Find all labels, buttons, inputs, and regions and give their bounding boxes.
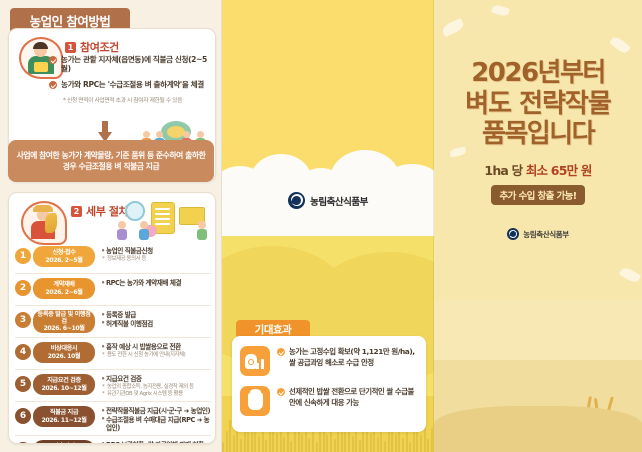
procedure-step-row: 5지급요건 검증2026. 10~12월지급요건 검증농업외 종합소득, 농지전…: [15, 373, 211, 399]
step-number: 4: [15, 344, 31, 360]
step-label: 직불금 지급: [50, 409, 78, 416]
grass-blade: [395, 434, 397, 452]
step-label-pill: 비상대응시2026. 10월: [33, 342, 95, 363]
subheadline-prefix: 1ha 당: [484, 163, 525, 178]
bullet-item: 농가와 RPC는 '수급조절용 벼 출하계약'을 체결: [49, 80, 209, 89]
section1-number: 1: [65, 42, 76, 53]
check-icon: [277, 348, 285, 356]
grass-blade: [326, 435, 328, 452]
grass-blade: [402, 438, 404, 452]
procedure-steps-list: 1신청·접수2026. 2~5월농업인 직불금신청정보제공 동의서 등2계약재배…: [15, 245, 211, 444]
step-desc-line: 허계직불 이행점검: [101, 320, 211, 329]
step-sub-note: 유관기관DB 및 Agrix 시스템 등 활용: [101, 391, 211, 398]
headline-line-3: 품목입니다: [434, 119, 642, 150]
grass-blade: [222, 442, 224, 452]
grass-blade: [352, 436, 354, 452]
step-label-pill: 사후관리연중: [33, 440, 95, 444]
step-divider: [15, 305, 211, 306]
money-chart-icon: [240, 346, 270, 376]
grass-blade: [240, 439, 242, 452]
step-desc-line: RPC는 농가와 계약재배 체결: [101, 279, 211, 288]
section1-title-row: 1 참여조건: [65, 39, 119, 55]
middle-ministry-logo: 농림축산식품부: [222, 192, 434, 209]
right-panel: 2026년부터 벼도 전략작물 품목입니다 1ha 당 최소 65만 원 추가 …: [434, 0, 642, 452]
effect-text: 선제적인 밥쌀 전환으로 단기적인 쌀 수급불안에 신속하게 대응 가능: [289, 386, 418, 408]
effect-item: 선제적인 밥쌀 전환으로 단기적인 쌀 수급불안에 신속하게 대응 가능: [240, 386, 418, 416]
step-description: 전략작물직불금 지급(시·군·구 ➜ 농업인)수급조절용 벼 수매대금 지급(R…: [101, 407, 211, 433]
grass-blade: [233, 435, 235, 452]
step-number: 6: [15, 408, 31, 424]
grass-blade: [359, 440, 361, 452]
step-desc-line: 흉작 예상 시 밥쌀용으로 전환: [101, 343, 211, 352]
grass-blade: [344, 432, 346, 452]
step-label: 사후관리: [53, 443, 74, 444]
right-ministry-logo: 농림축산식품부: [434, 228, 642, 240]
left-banner-title: 농업인 참여방법: [30, 11, 111, 30]
grass-blade: [334, 439, 336, 452]
taegeuk-icon: [507, 228, 519, 240]
check-icon: [277, 388, 285, 396]
step-label-pill: 직불금 지급2026. 11~12월: [33, 406, 95, 427]
grass-blade: [362, 429, 364, 452]
grass-blade: [265, 440, 267, 452]
procedure-step-row: 6직불금 지급2026. 11~12월전략작물직불금 지급(시·군·구 ➜ 농업…: [15, 405, 211, 433]
step-divider: [15, 273, 211, 274]
step-description: RPC 보관현황, 쌀 가공업체 판매 현황 등 점검: [101, 441, 211, 444]
farmer-rice-avatar-icon: [21, 201, 67, 245]
section2-number: 2: [71, 206, 82, 217]
middle-panel: 농림축산식품부 기대효과 농가는 고정수입 확보(약 1,121만 원/ha),…: [222, 0, 434, 452]
effect-text: 농가는 고정수입 확보(약 1,121만 원/ha), 쌀 공급과잉 해소로 수…: [289, 346, 418, 368]
step-sub-note: 정보제공 동의서 등: [101, 256, 211, 263]
effect-item: 농가는 고정수입 확보(약 1,121만 원/ha), 쌀 공급과잉 해소로 수…: [240, 346, 418, 376]
section1-bullets: 농가는 관할 지자체(읍면동)에 직불금 신청(2~5월) 농가와 RPC는 '…: [49, 55, 209, 104]
farmers-illustration: [434, 252, 642, 452]
effects-banner-title: 기대효과: [255, 322, 292, 337]
grass-blade: [420, 435, 422, 452]
procedure-step-row: 2계약재배2026. 2~6월RPC는 농가와 계약재배 체결: [15, 277, 211, 303]
summary-text: 사업에 참여한 농가가 계약물량, 기준 품위 등 준수하여 출하한 경우 수급…: [16, 150, 206, 173]
step-period: 2026. 6~10월: [43, 325, 84, 332]
step-label: 등록증 발급 및 이행점검: [35, 311, 93, 325]
step-divider: [15, 401, 211, 402]
effects-card: 농가는 고정수입 확보(약 1,121만 원/ha), 쌀 공급과잉 해소로 수…: [232, 336, 426, 432]
bullet-text: 농가는 관할 지자체(읍면동)에 직불금 신청(2~5월): [61, 55, 209, 74]
step-label-pill: 계약재배2026. 2~6월: [33, 278, 95, 299]
step-label: 신청·접수: [52, 249, 75, 256]
headline-line-2: 벼도 전략작물: [434, 89, 642, 120]
step-desc-line: 수급조절용 벼 수매대금 지급(RPC ➜ 농업인): [101, 416, 211, 433]
step-desc-line: RPC 보관현황, 쌀 가공업체 판매 현황 등 점검: [101, 441, 211, 444]
ministry-name: 농림축산식품부: [523, 229, 569, 240]
section1-note: * 신청 면적이 사업면적 초과 시 참여자 제한될 수 있음: [63, 95, 209, 104]
grass-blade: [377, 437, 379, 452]
grass-blade: [301, 434, 303, 452]
right-headline: 2026년부터 벼도 전략작물 품목입니다 1ha 당 최소 65만 원 추가 …: [434, 58, 642, 205]
step-description: 지급요건 검증농업외 종합소득, 농지전용, 실경작 제외 등유관기관DB 및 …: [101, 375, 211, 398]
step-period: 2026. 10~12월: [41, 385, 86, 392]
procedure-step-row: 7사후관리연중RPC 보관현황, 쌀 가공업체 판매 현황 등 점검: [15, 439, 211, 444]
step-period: 2026. 11~12월: [41, 417, 86, 424]
step-number: 1: [15, 248, 31, 264]
grass-blade: [409, 442, 411, 452]
grass-blade: [226, 431, 228, 452]
subheadline-strong: 최소 65만 원: [526, 163, 592, 178]
summary-box: 사업에 참여한 농가가 계약물량, 기준 품위 등 준수하여 출하한 경우 수급…: [8, 140, 214, 182]
section1-title: 참여조건: [80, 39, 119, 55]
step-desc-line: 전략작물직불금 지급(시·군·구 ➜ 농업인): [101, 407, 211, 416]
step-number: 7: [15, 442, 31, 444]
step-label-pill: 등록증 발급 및 이행점검2026. 6~10월: [33, 310, 95, 333]
procedure-illustration: [117, 199, 209, 239]
step-sub-note: 농업외 종합소득, 농지전용, 실경작 제외 등: [101, 384, 211, 391]
step-period: 2026. 2~6월: [45, 289, 82, 296]
grass-blade: [319, 431, 321, 452]
grass-blade: [370, 433, 372, 452]
subheadline-tag: 추가 수입 창출 가능!: [491, 185, 586, 205]
step-divider: [15, 337, 211, 338]
brochure-page: 농업인 참여방법 1 참여조건 농가는 관할 지자체(읍면동)에 직불금 신청(…: [0, 0, 642, 452]
check-dot-icon: [49, 81, 57, 89]
step-desc-line: 지급요건 검증: [101, 375, 211, 384]
left-panel: 농업인 참여방법 1 참여조건 농가는 관할 지자체(읍면동)에 직불금 신청(…: [0, 0, 222, 452]
step-desc-line: 농업인 직불금신청: [101, 247, 211, 256]
step-description: RPC는 농가와 계약재배 체결: [101, 279, 211, 288]
grass-blade: [290, 441, 292, 452]
magnifier-icon: [125, 201, 145, 221]
taegeuk-icon: [288, 192, 305, 209]
ministry-name: 농림축산식품부: [310, 194, 368, 208]
rice-sack-icon: [240, 386, 270, 416]
grass-blade: [276, 433, 278, 452]
grass-blade: [251, 432, 253, 452]
check-dot-icon: [49, 56, 57, 64]
subheadline: 1ha 당 최소 65만 원: [434, 160, 642, 179]
grass-blade: [229, 420, 231, 452]
step-number: 5: [15, 376, 31, 392]
step-label-pill: 지급요건 검증2026. 10~12월: [33, 374, 95, 395]
step-divider: [15, 435, 211, 436]
procedure-step-row: 3등록증 발급 및 이행점검2026. 6~10월등록증 발급허계직불 이행점검: [15, 309, 211, 335]
step-description: 흉작 예상 시 밥쌀용으로 전환용도 전환 시 신청 농가에 안내(지자체): [101, 343, 211, 359]
step-label: 지급요건 검증: [47, 377, 81, 384]
grass-blade: [316, 442, 318, 452]
bullet-item: 농가는 관할 지자체(읍면동)에 직불금 신청(2~5월): [49, 55, 209, 74]
grass-blade: [294, 430, 296, 452]
grass-blade: [308, 438, 310, 452]
bullet-text: 농가와 RPC는 '수급조절용 벼 출하계약'을 체결: [61, 80, 204, 89]
grass-blade: [258, 436, 260, 452]
grass-blade: [283, 437, 285, 452]
step-divider: [15, 369, 211, 370]
grass-blade: [413, 431, 415, 452]
grass-blade: [269, 429, 271, 452]
step-desc-line: 등록증 발급: [101, 311, 211, 320]
headline-line-1: 2026년부터: [434, 58, 642, 89]
step-description: 농업인 직불금신청정보제공 동의서 등: [101, 247, 211, 263]
grass-blade: [388, 430, 390, 452]
step-number: 3: [15, 312, 31, 328]
step-description: 등록증 발급허계직불 이행점검: [101, 311, 211, 328]
step-label: 비상대응시: [51, 345, 77, 352]
step-period: 2026. 10월: [48, 353, 80, 360]
procedure-step-row: 4비상대응시2026. 10월흉작 예상 시 밥쌀용으로 전환용도 전환 시 신…: [15, 341, 211, 367]
procedures-card: 2 세부 절차 1신청·접수2026. 2~5월농업인 직불금신청정보제공 동의…: [8, 192, 216, 444]
step-number: 2: [15, 280, 31, 296]
grass-blade: [427, 439, 429, 452]
step-sub-note: 용도 전환 시 신청 농가에 안내(지자체): [101, 352, 211, 359]
step-period: 2026. 2~5월: [45, 257, 82, 264]
step-label: 계약재배: [53, 281, 74, 288]
procedure-step-row: 1신청·접수2026. 2~5월농업인 직불금신청정보제공 동의서 등: [15, 245, 211, 271]
grass-blade: [384, 441, 386, 452]
step-label-pill: 신청·접수2026. 2~5월: [33, 246, 95, 267]
